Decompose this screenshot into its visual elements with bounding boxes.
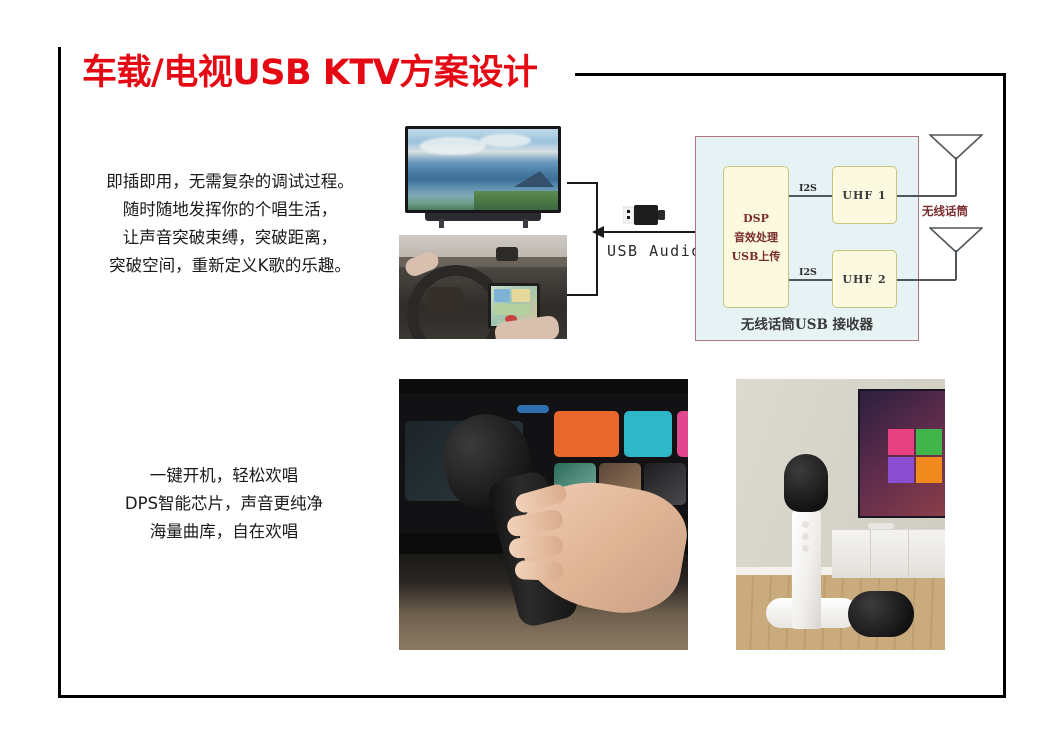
dsp-line-3: USB上传 [732,247,781,266]
car-rearview-mirror [496,247,518,261]
car-screen-tile [494,304,530,315]
intro-line-4: 突破空间，重新定义K歌的乐趣。 [74,252,386,280]
usb-audio-label: USB Audio [607,242,702,260]
usb-plug-icon [623,204,669,226]
tv-foliage-shape [474,191,558,210]
tv-photo [399,126,567,228]
i2s-wire-1 [789,195,832,197]
tv-mountain-shape [514,171,554,187]
feature-line-3: 海量曲库，自在欢唱 [74,518,374,546]
tv-bezel [405,126,561,213]
tv-app-tile [916,429,942,455]
uhf1-label: UHF 1 [842,189,886,202]
microphone-foam-head-standing [784,454,828,512]
dsp-line-1: DSP [743,209,769,228]
feature-line-1: 一键开机，轻松欢唱 [74,462,374,490]
microphone-button [802,533,809,540]
dsp-line-2: 音效处理 [734,228,778,247]
antenna-wire-1 [897,195,956,197]
uhf2-label: UHF 2 [842,273,886,286]
antenna-wire-2 [897,279,956,281]
tv-screen-image [408,129,558,210]
diagram-block-uhf2: UHF 2 [832,250,897,308]
media-tile [677,411,688,457]
living-room-tv [858,389,945,518]
page-frame-bottom-border [58,695,1006,698]
media-tile [624,411,672,457]
page-title: 车载/电视USB KTV方案设计 [82,44,537,95]
intro-line-3: 让声音突破束缚，突破距离， [74,224,386,252]
tv-foot-left [439,219,444,228]
photo-connector-bracket [567,182,598,296]
tv-cabinet [832,529,945,578]
i2s-label-1: I2S [799,183,817,194]
cabinet-divider [870,529,871,577]
i2s-wire-2 [789,279,832,281]
page-frame-right-border [1003,73,1006,698]
intro-text-block: 即插即用，无需复杂的调试过程。 随时随地发挥你的个唱生活， 让声音突破束缚，突破… [74,168,386,280]
intro-line-1: 即插即用，无需复杂的调试过程。 [74,168,386,196]
finger [515,560,564,581]
tv-app-tile [916,457,942,483]
car-screen-tile [494,289,510,302]
diagram-caption: 无线话筒USB 接收器 [695,313,919,333]
remote-control [868,523,894,529]
tv-app-tile [888,429,914,455]
diagram-block-dsp: DSP 音效处理 USB上传 [723,166,789,308]
usb-audio-arrow-head [592,226,604,238]
wireless-microphone-label: 无线话筒 [922,203,968,219]
microphone-foam-head-lying [848,591,914,637]
intro-line-2: 随时随地发挥你的个唱生活， [74,196,386,224]
mic-in-car-photo [399,379,688,650]
title-rule [575,73,1005,76]
microphone-button [802,545,809,552]
media-tile [517,405,549,413]
page-frame-left-border [58,47,61,698]
tv-app-tile [888,457,914,483]
car-interior-photo [399,235,567,339]
usb-audio-arrow-line [596,231,700,233]
antenna-icon-1 [929,134,983,165]
diagram-block-uhf1: UHF 1 [832,166,897,224]
finger [508,535,563,559]
tv-cloud-shape [420,137,486,155]
cabinet-divider [908,529,909,577]
car-steering-hub [427,287,463,313]
media-tile [554,411,619,457]
car-screen-tile [512,289,530,302]
tv-cloud-shape [480,134,531,147]
feature-line-2: DPS智能芯片，声音更纯净 [74,490,374,518]
features-text-block: 一键开机，轻松欢唱 DPS智能芯片，声音更纯净 海量曲库，自在欢唱 [74,462,374,546]
tv-foot-right [523,219,528,228]
mics-living-room-photo [736,379,945,650]
antenna-icon-2 [929,227,983,258]
i2s-label-2: I2S [799,267,817,278]
microphone-button [802,521,809,528]
